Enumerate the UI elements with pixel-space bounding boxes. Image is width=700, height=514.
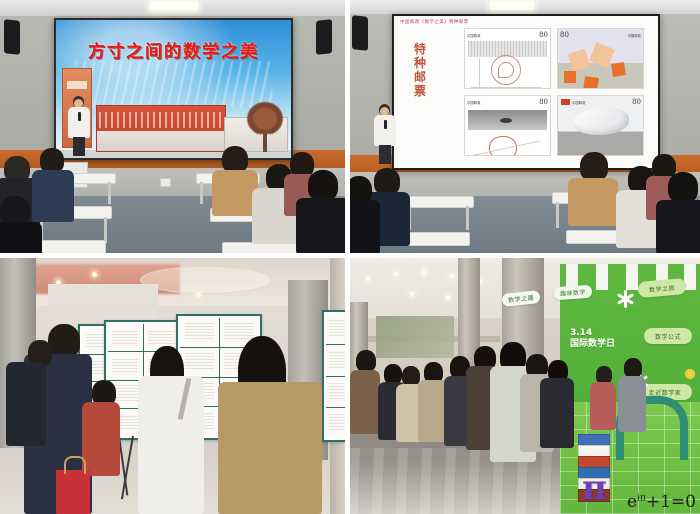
stamp-sheet [326,345,345,375]
ceiling-spotlight [196,292,201,297]
presenter-legs [73,137,85,156]
pi-day-title: 国际数学日 [570,339,626,350]
ceiling-spotlight [92,272,97,277]
flower-icon [616,290,634,308]
slide-tree [245,100,285,134]
stamp-sheet [326,408,345,438]
slide-header: 中国邮政《数学之美》特种邮票 [400,19,469,25]
stamp-sheet [108,352,143,379]
wall-outlet [160,178,171,187]
visitor-body [82,402,120,476]
visitor-body [350,370,380,434]
ceiling-light [490,1,534,10]
wall-artwork [376,316,454,358]
stamp-header: 中国邮政 80 [572,98,641,106]
speaker-box-left [4,19,20,55]
slide-cloud-streaks [75,61,272,108]
stamp-item: 中国邮政 80 [464,95,551,156]
booth-flag [596,264,608,290]
audience-body [568,178,618,226]
visitor-head [356,350,376,372]
visitor-head [384,364,402,384]
stamp-label: 中国邮政 [467,100,481,105]
audience-head [222,146,248,173]
desk-leg [108,182,111,204]
ceiling-downlight [366,276,370,280]
stamp-grid: 中国邮政 80 80 中国邮政 [464,28,644,156]
booth-sign: 数学之旅 [637,278,686,298]
stamp-item: 80 中国邮政 [557,28,644,89]
slide-title: 方寸之间的数学之美 [56,37,291,62]
desk-leg [200,182,203,204]
stamp-value: 80 [539,31,548,39]
stamp-item: 中国邮政 80 [464,28,551,89]
audience-head [374,168,400,195]
audience-body [32,170,74,222]
stamp-value: 80 [560,31,569,39]
speaker-box-left [352,15,368,51]
photo-collage: 方寸之间的数学之美 [0,0,700,514]
photo-panel-bottom-right: 数学之趣 趣味数学 数学之旅 数学公式 走近数学家 3.14 国际数学日 [350,258,700,514]
exhibition-board [322,310,345,442]
visitor-head [402,366,420,386]
desk [404,196,474,208]
stamp-axis [479,59,480,89]
stamp-header: 80 中国邮政 [560,31,641,39]
ceiling-light [150,1,198,10]
slide-vertical-title: 特种邮票 [412,42,428,98]
euler-identity: eiπ+1=0 [627,492,696,512]
euler-exponent: iπ [637,493,646,503]
desk-leg [466,206,469,230]
stamp-pupil [500,118,513,123]
stamp-sheet [180,348,219,377]
desk-leg [556,202,559,228]
audience-body [656,200,700,253]
stamp-badge [561,99,570,105]
stamp-value: 80 [539,98,548,106]
shopping-bag [56,470,90,514]
stamp-square [564,71,576,83]
pi-symbol: π [582,468,607,508]
audience-head [308,170,338,201]
visitor-body [138,376,204,514]
ceiling-downlight [446,296,450,300]
stamp-label: 中国邮政 [572,100,586,105]
stamp-sheet [180,318,219,347]
audience-head [668,172,698,203]
visitor-body [618,376,646,432]
stamp-square [583,76,599,89]
stamp-header: 中国邮政 80 [467,98,548,106]
stamp-sheet [326,314,345,344]
stamp-label: 中国邮政 [467,33,481,38]
visitor-body [590,382,616,430]
booth-sign: 数学公式 [644,328,692,344]
presenter [68,96,90,156]
stamp-axis [471,87,541,88]
stamp-square [611,62,626,77]
presenter [374,104,396,164]
pi-day-date: 3.14 [570,328,626,339]
euler-base: e [627,492,637,512]
audience-body [296,198,345,253]
audience-body [350,200,380,253]
audience-head [580,152,608,181]
booth-sign: 趣味数学 [554,285,593,301]
projection-screen: 中国邮政《数学之美》特种邮票 特种邮票 中国邮政 80 [392,14,660,170]
photo-panel-top-right: 中国邮政《数学之美》特种邮票 特种邮票 中国邮政 80 [350,0,700,253]
euler-tail: +1=0 [646,492,696,512]
stamp-label: 中国邮政 [627,33,641,38]
visitor-head [48,324,80,358]
visitor-head [624,358,642,378]
visitor-body [6,362,46,446]
slide-tree-trunk [263,132,267,152]
presenter-legs [379,145,391,164]
stamp-sheet [108,324,143,351]
stamp-sheet [326,377,345,407]
microphone [78,112,81,121]
stamp-eye-band [468,110,547,130]
board-grid [326,314,345,438]
microphone [384,120,387,129]
booth-flag [626,264,638,290]
pi-day-headline: 3.14 国际数学日 [570,328,626,350]
visitor-body [218,382,322,514]
speaker-box-right [316,19,332,55]
ceiling-downlight [422,270,426,274]
ceiling-downlight [394,272,398,276]
ceiling-ring-light [140,266,272,294]
stamp-value: 80 [632,98,641,106]
ceiling-downlight [410,292,414,296]
visitor-body [540,378,574,448]
ceiling-downlight [450,274,454,278]
slide-building-main [96,105,226,152]
bag-handle [64,456,86,474]
stamp-spiral [498,62,514,78]
photo-panel-top-left: 方寸之间的数学之美 [0,0,345,253]
stamp-item: 中国邮政 80 [557,95,644,156]
stamp-header: 中国邮政 80 [467,31,548,39]
photo-panel-bottom-left [0,258,345,514]
flower-icon [684,368,696,380]
audience-body [0,222,42,253]
